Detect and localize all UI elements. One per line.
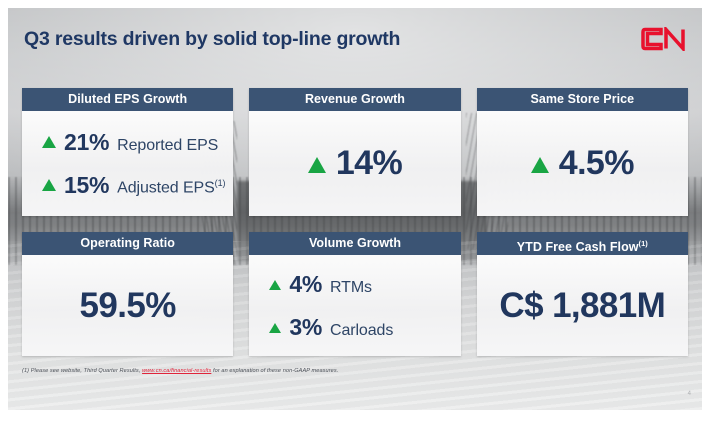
metric-card-grid: Diluted EPS Growth 21% Reported EPS 15% … — [22, 88, 688, 356]
card-body-diluted-eps-growth: 21% Reported EPS 15% Adjusted EPS(1) — [22, 111, 233, 216]
card-header-diluted-eps-growth: Diluted EPS Growth — [22, 88, 233, 111]
metric-value: 4% — [289, 271, 322, 298]
metric-single: C$ 1,881M — [477, 286, 688, 326]
metric-card-operating-ratio[interactable]: Operating Ratio 59.5% — [22, 232, 233, 356]
footnote-marker: (1) — [639, 239, 648, 248]
card-header-volume-growth: Volume Growth — [249, 232, 460, 255]
metric-single: 4.5% — [477, 144, 688, 183]
card-header-operating-ratio: Operating Ratio — [22, 232, 233, 255]
page-title: Q3 results driven by solid top-line grow… — [24, 28, 400, 51]
metric-row: 3% Carloads — [269, 314, 460, 341]
metric-label: Reported EPS — [117, 137, 218, 155]
metric-label: RTMs — [330, 279, 372, 297]
card-title-text: Same Store Price — [531, 92, 635, 106]
card-title-text: Operating Ratio — [80, 236, 175, 250]
card-header-revenue-growth: Revenue Growth — [249, 88, 460, 111]
card-title-text: Revenue Growth — [305, 92, 405, 106]
arrow-up-icon — [308, 157, 326, 173]
cn-logo-icon — [641, 27, 687, 51]
card-title-text: Diluted EPS Growth — [68, 92, 187, 106]
arrow-up-icon — [42, 136, 56, 148]
footnote-marker: (1) — [215, 178, 226, 188]
metric-value: C$ 1,881M — [499, 286, 665, 326]
metric-value: 15% — [64, 172, 109, 199]
metric-row: 15% Adjusted EPS(1) — [42, 172, 233, 199]
card-body-ytd-free-cash-flow: C$ 1,881M — [477, 255, 688, 356]
metric-row-list: 21% Reported EPS 15% Adjusted EPS(1) — [22, 129, 233, 199]
card-title-text: Volume Growth — [309, 236, 401, 250]
metric-single: 59.5% — [22, 286, 233, 326]
card-title-text: YTD Free Cash Flow — [517, 240, 639, 254]
footnote-prefix: (1) Please see website, Third Quarter Re… — [22, 368, 140, 374]
metric-single: 14% — [249, 144, 460, 183]
metric-label: Adjusted EPS(1) — [117, 178, 225, 197]
metric-label: Carloads — [330, 322, 393, 340]
metric-row-list: 4% RTMs 3% Carloads — [249, 271, 460, 341]
slide-header: Q3 results driven by solid top-line grow… — [0, 0, 710, 78]
arrow-up-icon — [269, 280, 281, 290]
metric-value: 14% — [336, 144, 402, 183]
metric-value: 21% — [64, 129, 109, 156]
presentation-slide: Q3 results driven by solid top-line grow… — [0, 0, 710, 422]
metric-row: 4% RTMs — [269, 271, 460, 298]
footnote: (1) Please see website, Third Quarter Re… — [22, 368, 338, 374]
card-body-volume-growth: 4% RTMs 3% Carloads — [249, 255, 460, 356]
card-body-operating-ratio: 59.5% — [22, 255, 233, 356]
card-body-same-store-price: 4.5% — [477, 111, 688, 216]
metric-row: 21% Reported EPS — [42, 129, 233, 156]
metric-card-ytd-free-cash-flow[interactable]: YTD Free Cash Flow(1) C$ 1,881M — [477, 232, 688, 356]
arrow-up-icon — [531, 157, 549, 173]
metric-label-text: Adjusted EPS — [117, 180, 215, 197]
metric-value: 3% — [289, 314, 322, 341]
metric-card-revenue-growth[interactable]: Revenue Growth 14% — [249, 88, 460, 216]
card-header-same-store-price: Same Store Price — [477, 88, 688, 111]
card-body-revenue-growth: 14% — [249, 111, 460, 216]
arrow-up-icon — [269, 323, 281, 333]
metric-card-same-store-price[interactable]: Same Store Price 4.5% — [477, 88, 688, 216]
footnote-link[interactable]: www.cn.ca/financial-results — [142, 368, 211, 374]
card-header-ytd-free-cash-flow: YTD Free Cash Flow(1) — [477, 232, 688, 255]
page-number: 4 — [688, 391, 691, 397]
arrow-up-icon — [42, 179, 56, 191]
metric-value: 4.5% — [559, 144, 634, 183]
metric-value: 59.5% — [80, 286, 176, 326]
metric-card-volume-growth[interactable]: Volume Growth 4% RTMs 3% Carloads — [249, 232, 460, 356]
metric-card-diluted-eps-growth[interactable]: Diluted EPS Growth 21% Reported EPS 15% … — [22, 88, 233, 216]
footnote-suffix: for an explanation of these non-GAAP mea… — [213, 368, 338, 374]
